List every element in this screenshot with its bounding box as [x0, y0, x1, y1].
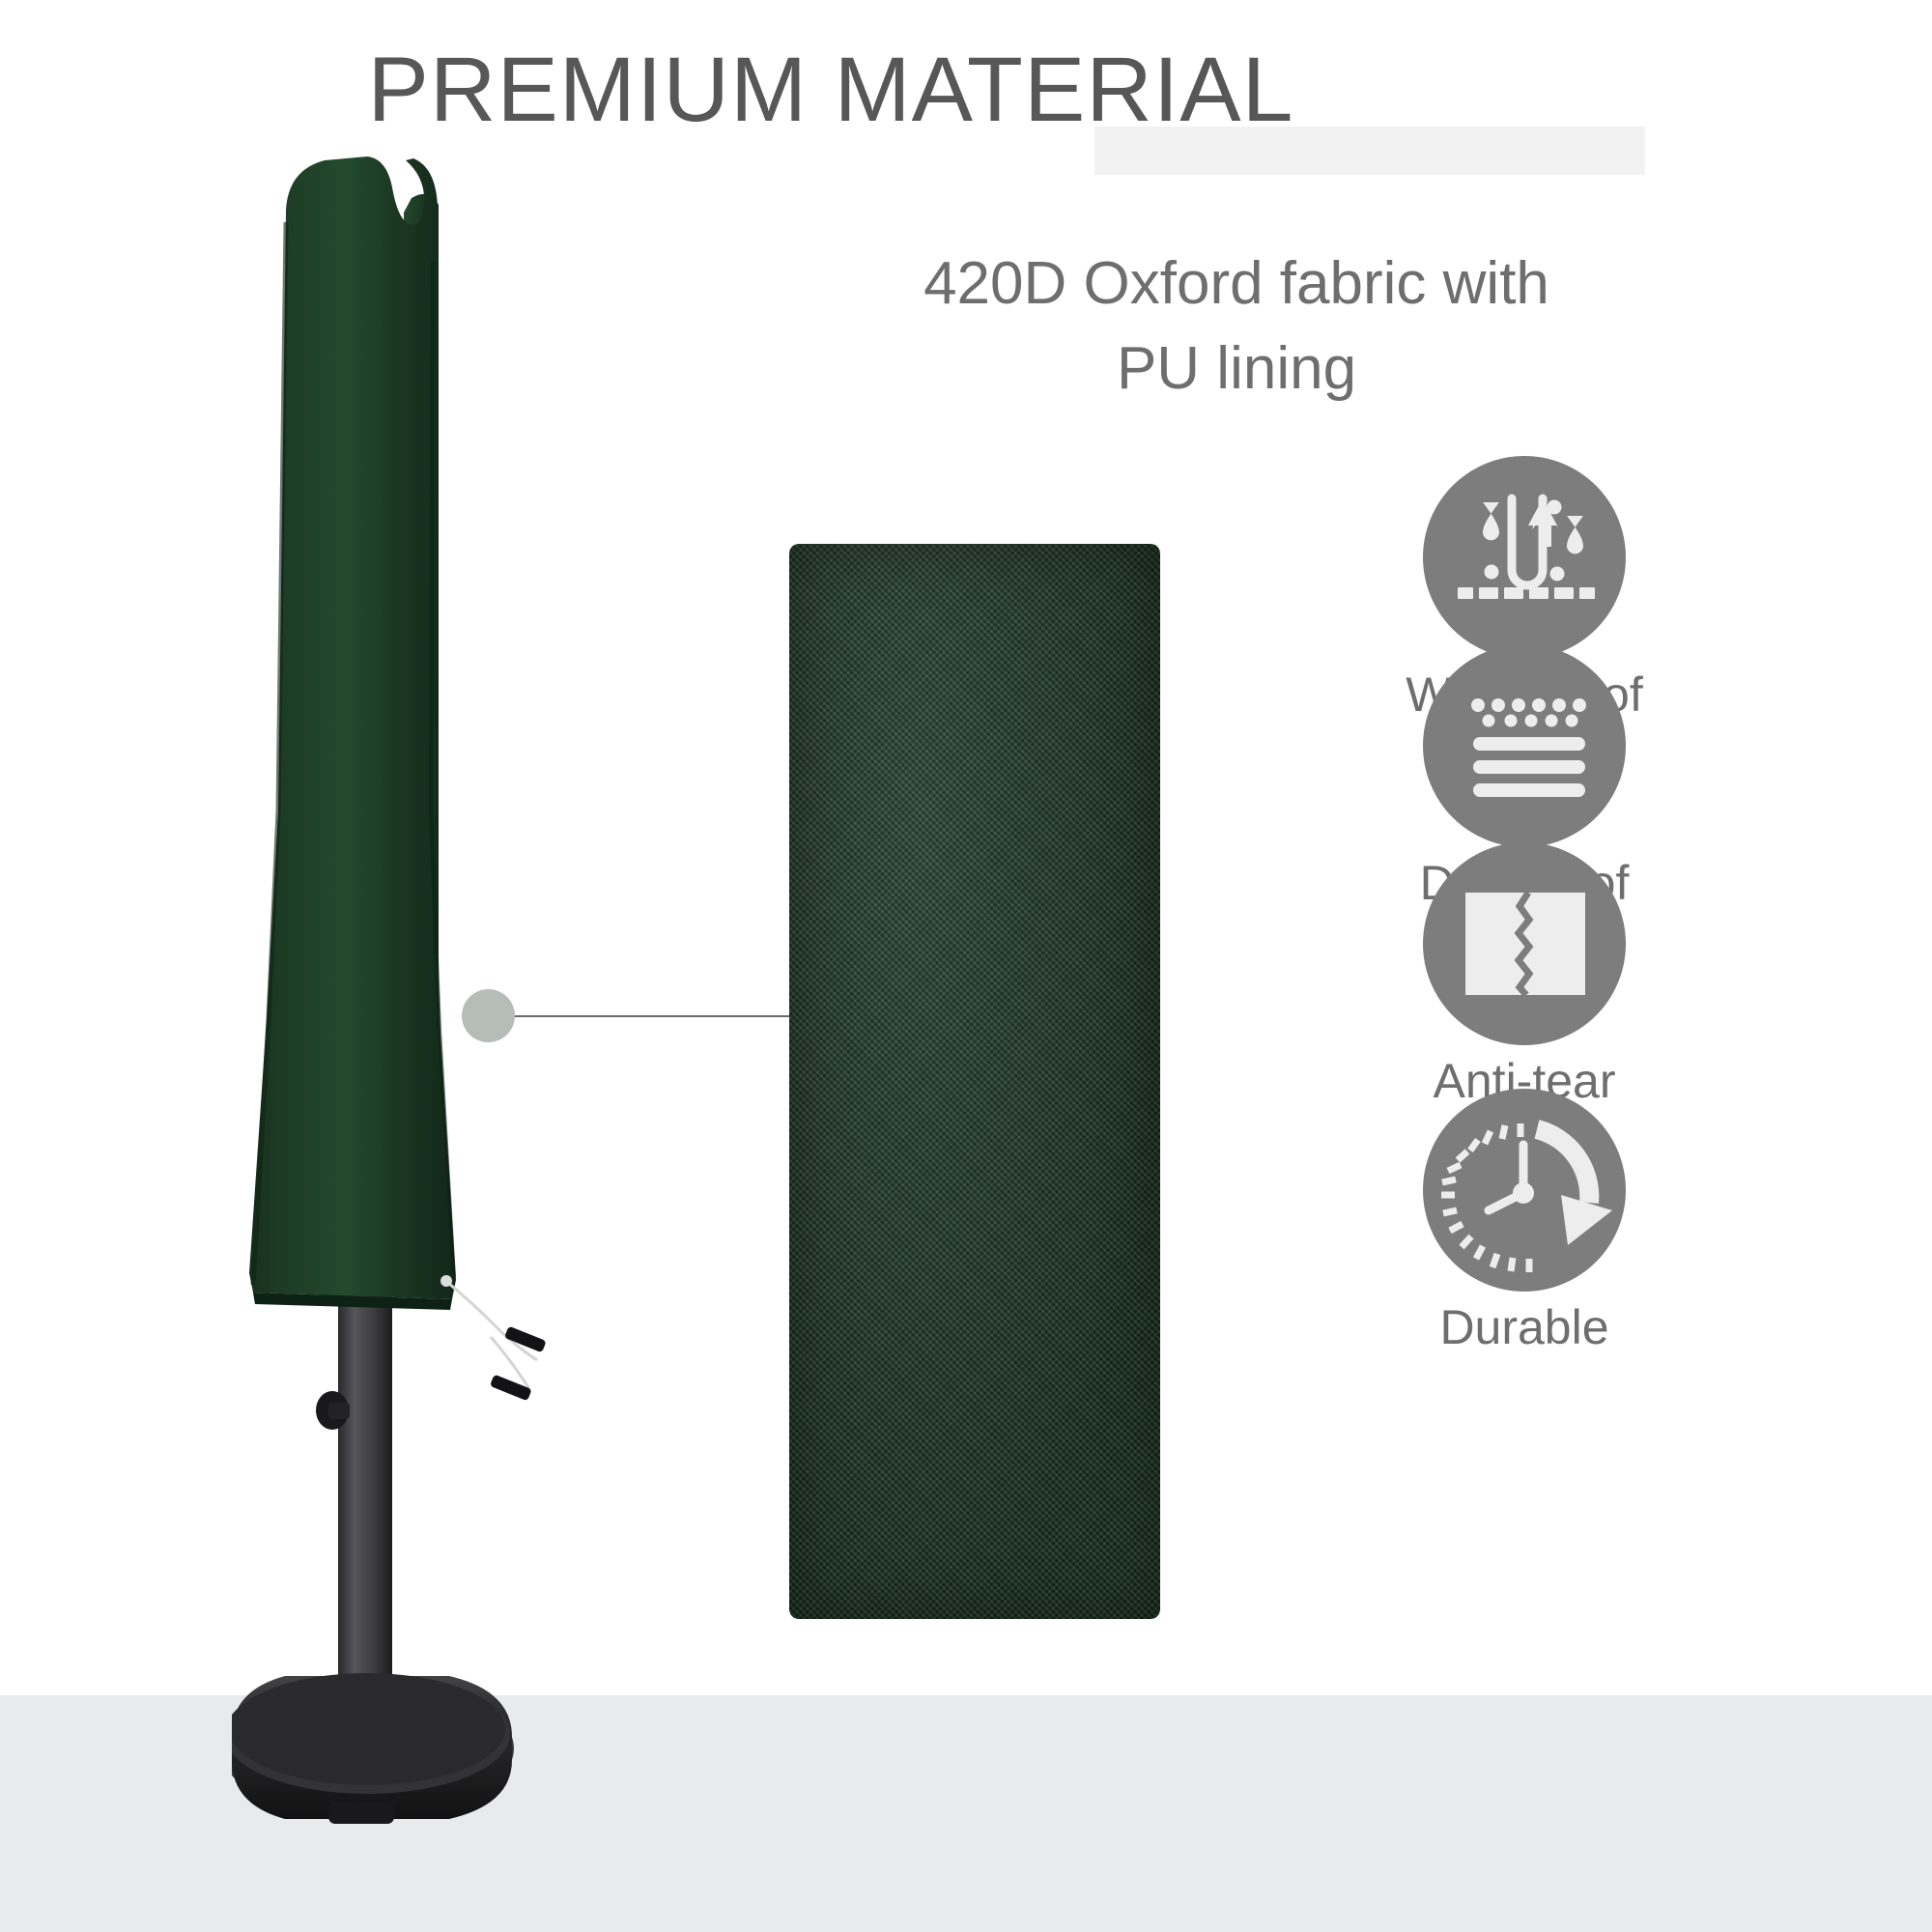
umbrella-base	[232, 1673, 514, 1824]
page-title: PREMIUM MATERIAL	[0, 37, 1662, 143]
product-infographic: PREMIUM MATERIAL 420D Oxford fabric with…	[0, 0, 1932, 1932]
subtitle-line-2: PU lining	[831, 327, 1642, 412]
feature-item-durable: Durable	[1350, 1089, 1698, 1357]
page-subtitle: 420D Oxford fabric with PU lining	[831, 241, 1642, 412]
durable-icon	[1423, 1089, 1626, 1292]
umbrella-cover	[249, 156, 456, 1310]
subtitle-line-1: 420D Oxford fabric with	[831, 241, 1642, 327]
product-illustration	[232, 145, 638, 1864]
feature-label-durable: Durable	[1350, 1297, 1698, 1357]
waterproof-icon	[1423, 456, 1626, 659]
fabric-swatch	[789, 544, 1160, 1619]
feature-item-anti-tear: Anti-tear	[1350, 842, 1698, 1111]
callout-line	[495, 1015, 792, 1017]
callout-dot	[462, 989, 515, 1042]
anti-tear-icon	[1423, 842, 1626, 1045]
dustproof-icon	[1423, 644, 1626, 847]
drawstring-toggle	[440, 1275, 547, 1401]
